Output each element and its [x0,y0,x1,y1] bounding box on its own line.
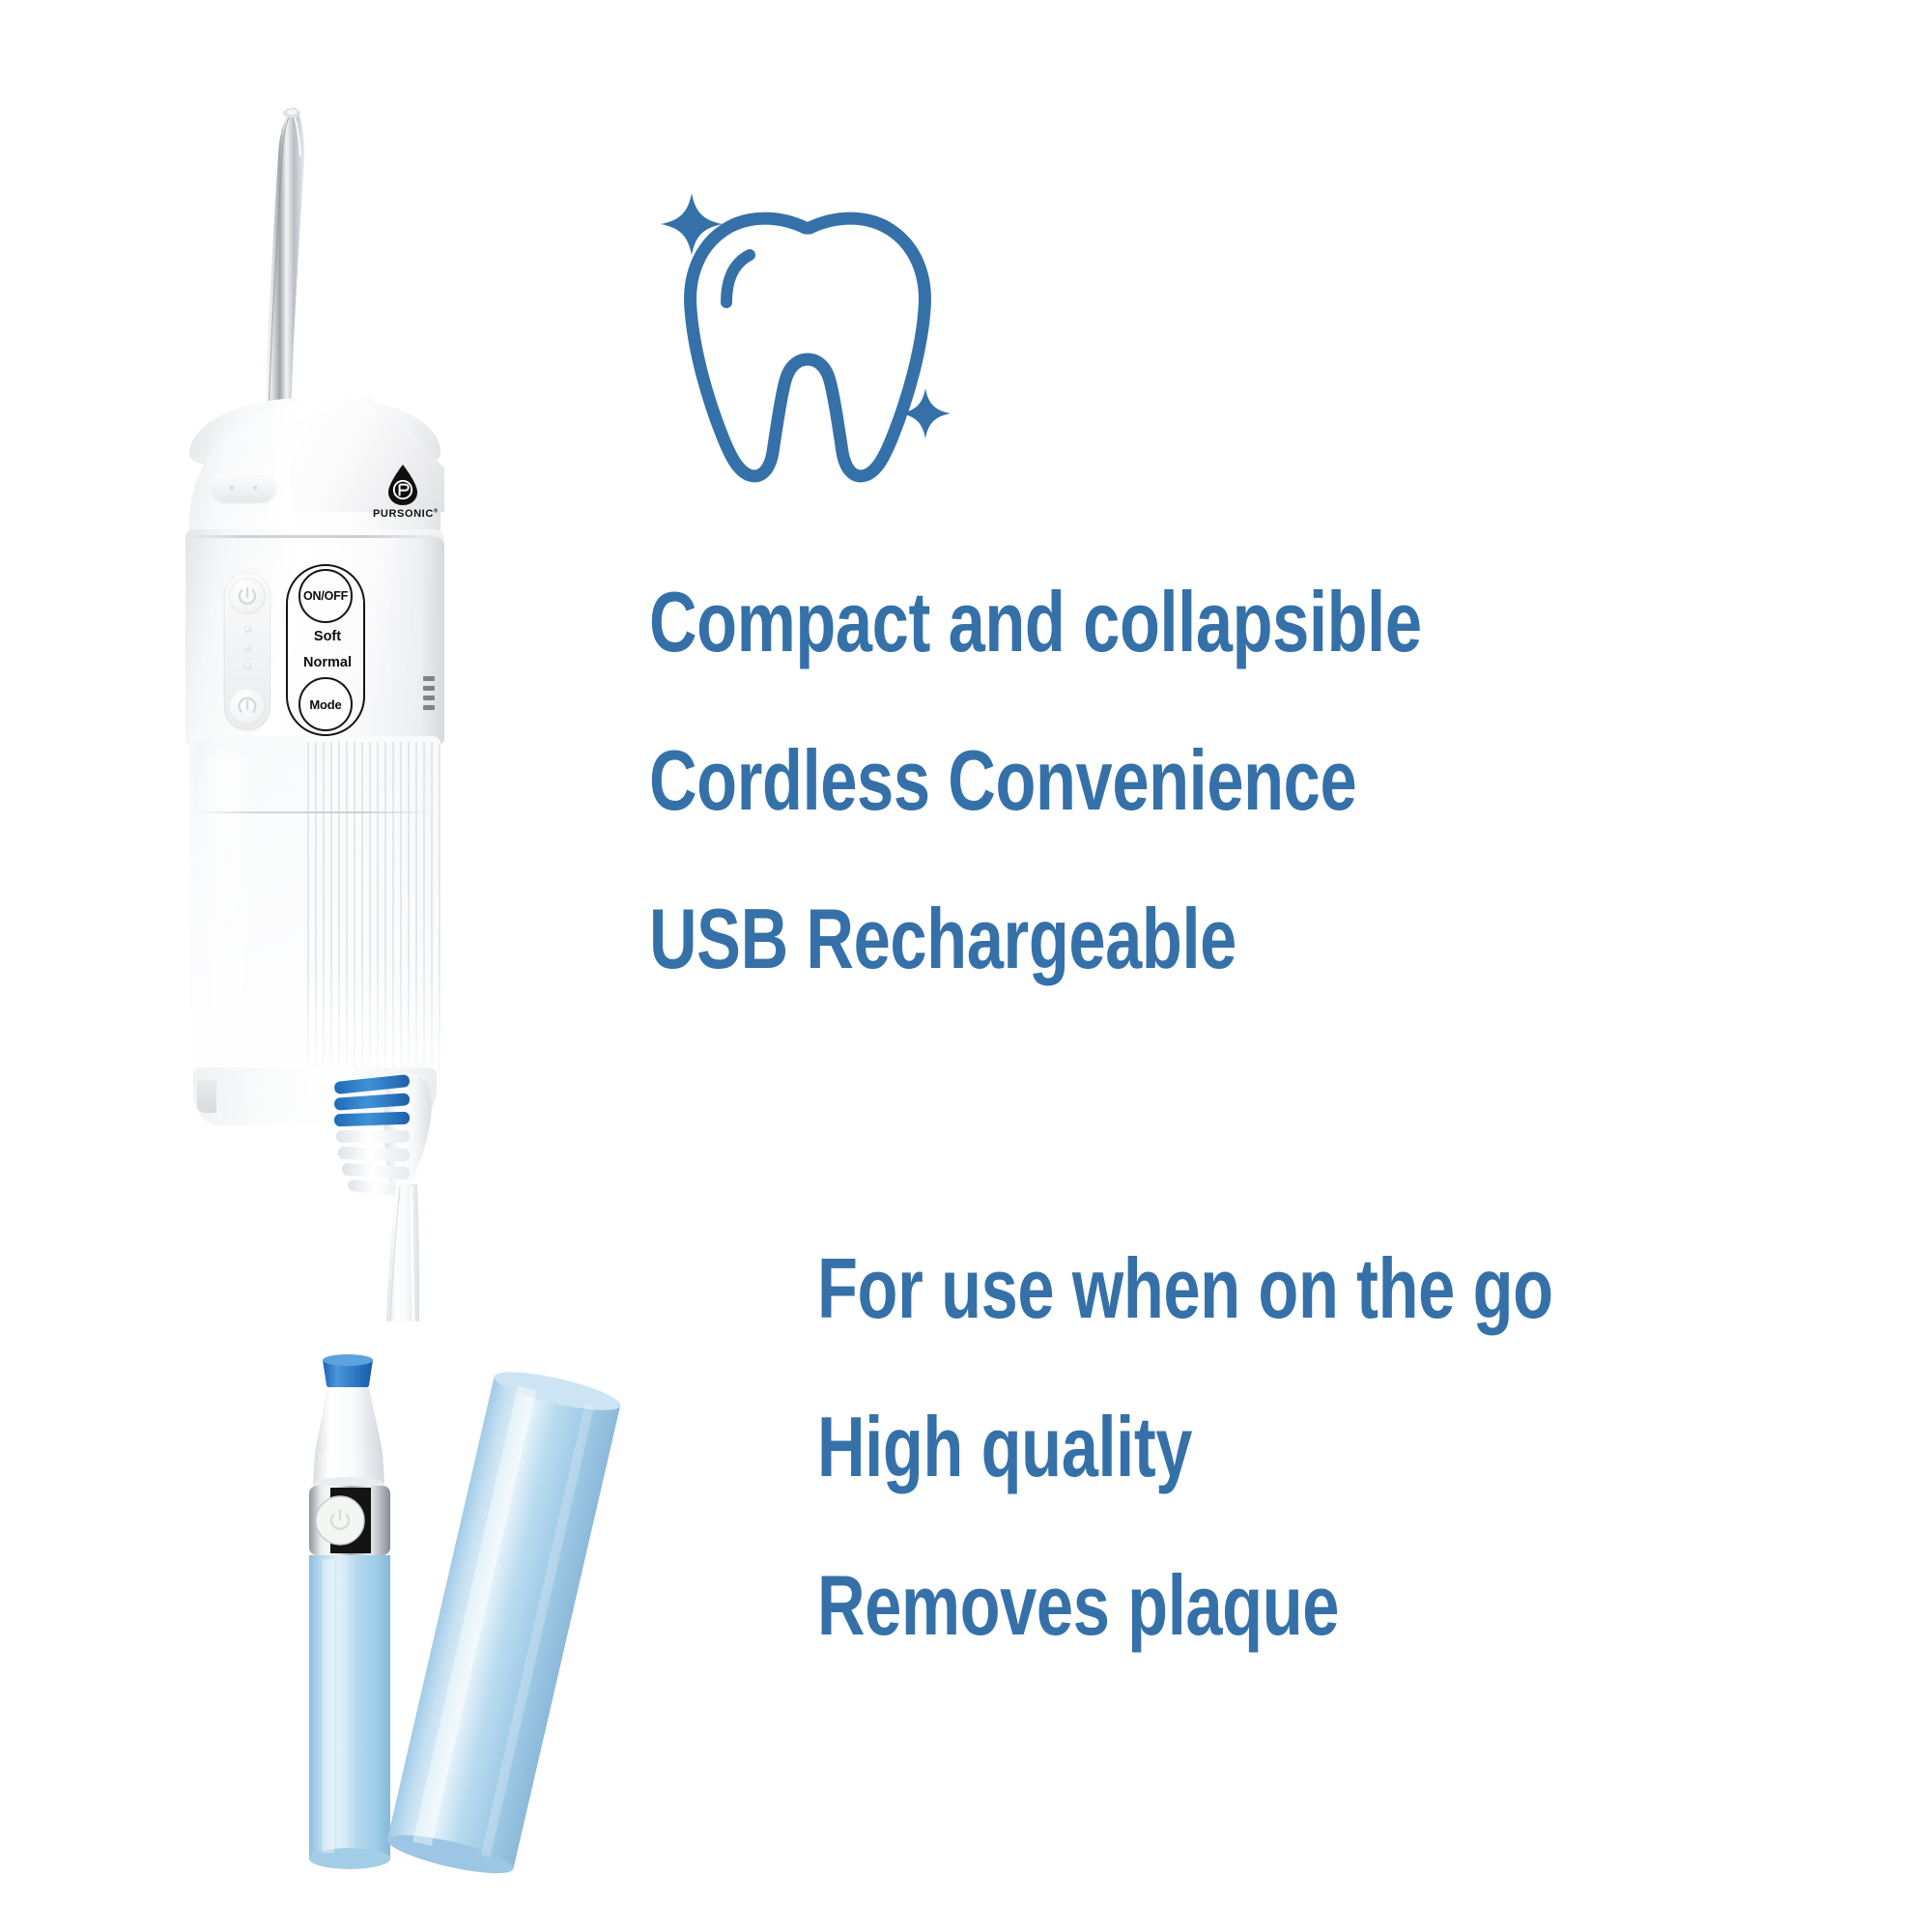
feature-item-usb-rechargeable: USB Rechargeable [649,896,1629,981]
water-tank-ribs [307,742,442,1103]
tooth-with-sparkles-icon [638,174,966,493]
product-feature-graphic: PURSONIC® [0,0,1932,1932]
vent-slot [423,696,435,700]
feature-item-compact-collapsible: Compact and collapsible [649,580,1629,665]
led-dot [244,626,251,633]
feature-list-top: Compact and collapsible Cordless Conveni… [649,580,1905,1055]
feature-item-on-the-go: For use when on the go [817,1246,1684,1331]
power-icon [229,578,266,614]
feature-item-high-quality: High quality [817,1405,1684,1490]
water-level-line [193,811,435,813]
mode-label-button[interactable]: Mode [298,677,353,731]
led-dot [244,663,251,669]
feature-list-bottom: For use when on the go High quality Remo… [817,1246,1928,1721]
brand-logo: PURSONIC® [373,464,433,520]
tooth-shine-arc [726,255,750,302]
vent-slot [423,686,435,691]
water-tank-highlight [205,744,249,1092]
jet-tip-nozzle [246,104,353,423]
brand-name: PURSONIC® [373,508,433,520]
water-tank-foot [197,1080,216,1113]
control-label-panel: ON/OFF Soft Normal Pulse Mode [286,564,365,736]
feature-item-removes-plaque: Removes plaque [817,1563,1684,1648]
vent-slot [423,705,435,710]
mode-label-normal: Normal [288,656,367,670]
mode-icon [229,688,266,724]
tank-release-switch[interactable] [211,473,276,502]
vent-slot [423,676,435,681]
power-button[interactable] [229,578,266,614]
device-body-seam [185,535,444,538]
switch-dot [253,486,257,490]
water-drop-icon [386,464,419,506]
tooth-outline [691,218,925,476]
led-indicators [224,626,270,681]
mode-label: Mode [309,698,341,711]
onoff-label-button[interactable]: ON/OFF [298,569,353,623]
feature-item-cordless-convenience: Cordless Convenience [649,738,1629,823]
button-strip[interactable] [224,572,270,730]
switch-dot [230,486,234,490]
device-vent-slots [423,676,437,723]
mode-button[interactable] [229,688,266,724]
onoff-label: ON/OFF [303,590,348,603]
led-dot [244,644,251,651]
travel-cap [386,1364,638,1905]
mode-label-soft: Soft [288,630,367,644]
